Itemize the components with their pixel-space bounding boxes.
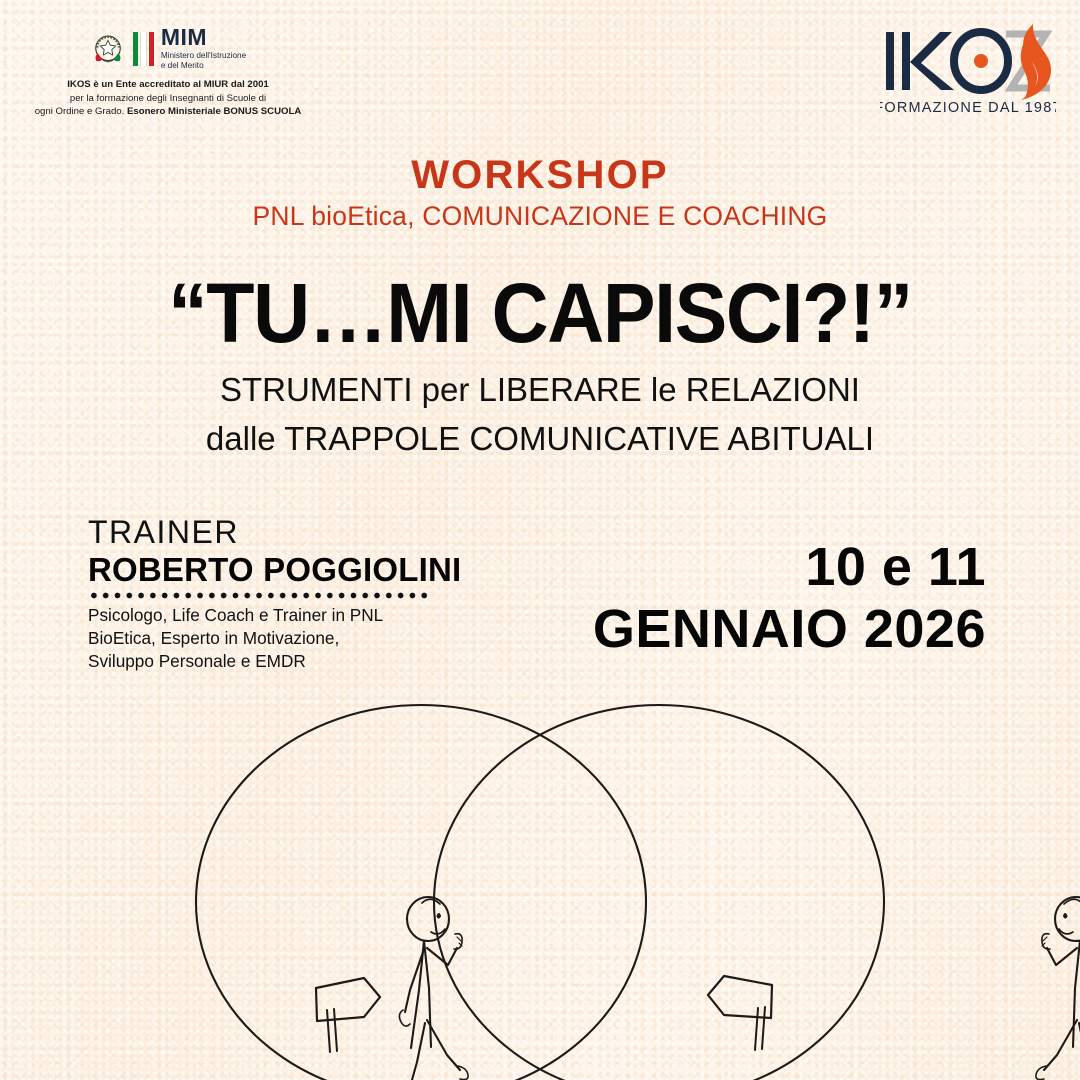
signpost-right xyxy=(708,976,772,1050)
accreditation-line-3-normal: ogni Ordine e Grado. xyxy=(35,106,127,117)
mim-title: MIM xyxy=(161,26,246,49)
accreditation-line-3: ogni Ordine e Grado. Esonero Ministerial… xyxy=(18,105,318,119)
italian-flag-bars xyxy=(133,32,154,66)
workshop-poster: MIM Ministero dell'Istruzione e del Meri… xyxy=(0,0,1080,1080)
stick-figure-right xyxy=(1036,897,1080,1080)
mim-wordmark: MIM Ministero dell'Istruzione e del Meri… xyxy=(161,26,246,71)
accreditation-text: IKOS è un Ente accreditato al MIUR dal 2… xyxy=(18,78,318,119)
workshop-subject: PNL bioEtica, COMUNICAZIONE E COACHING xyxy=(0,202,1080,231)
mim-logo: MIM Ministero dell'Istruzione e del Meri… xyxy=(18,26,318,71)
poster-subtitle: STRUMENTI per LIBERARE le RELAZIONI dall… xyxy=(0,366,1080,464)
ikos-tagline: FORMAZIONE DAL 1987 xyxy=(880,100,1056,116)
event-month-year: GENNAIO 2026 xyxy=(593,602,986,656)
trainer-label: TRAINER xyxy=(88,516,518,550)
trainer-block: TRAINER ROBERTO POGGIOLINI Psicologo, Li… xyxy=(88,516,518,674)
two-circles-illustration xyxy=(0,690,1080,1080)
trainer-description: Psicologo, Life Coach e Trainer in PNL B… xyxy=(88,604,518,674)
italian-republic-emblem-icon xyxy=(90,31,126,67)
left-circle xyxy=(196,705,646,1080)
right-circle xyxy=(434,705,884,1080)
mim-accreditation-block: MIM Ministero dell'Istruzione e del Meri… xyxy=(18,26,318,119)
accreditation-line-2: per la formazione degli Insegnanti di Sc… xyxy=(18,92,318,106)
workshop-kicker: WORKSHOP xyxy=(0,154,1080,196)
event-date-block: 10 e 11 GENNAIO 2026 xyxy=(593,540,986,656)
poster-main-title: “TU…MI CAPISCI?!” xyxy=(32,271,1047,355)
poster-subtitle-line-1: STRUMENTI per LIBERARE le RELAZIONI xyxy=(0,366,1080,415)
trainer-name: ROBERTO POGGIOLINI xyxy=(88,552,518,589)
workshop-heading: WORKSHOP PNL bioEtica, COMUNICAZIONE E C… xyxy=(0,154,1080,231)
signpost-left xyxy=(316,978,380,1052)
poster-subtitle-line-2: dalle TRAPPOLE COMUNICATIVE ABITUALI xyxy=(0,415,1080,464)
ikos-logo-icon: FORMAZIONE DAL 1987 xyxy=(880,22,1056,118)
accreditation-line-3-bold: Esonero Ministeriale BONUS SCUOLA xyxy=(127,106,301,117)
dotted-divider xyxy=(88,592,429,599)
mim-subtitle: Ministero dell'Istruzione e del Merito xyxy=(161,51,246,71)
ikos-logo: FORMAZIONE DAL 1987 xyxy=(880,22,1056,118)
illustration xyxy=(0,690,1080,1080)
accreditation-line-1: IKOS è un Ente accreditato al MIUR dal 2… xyxy=(18,78,318,92)
event-days: 10 e 11 xyxy=(593,540,986,594)
